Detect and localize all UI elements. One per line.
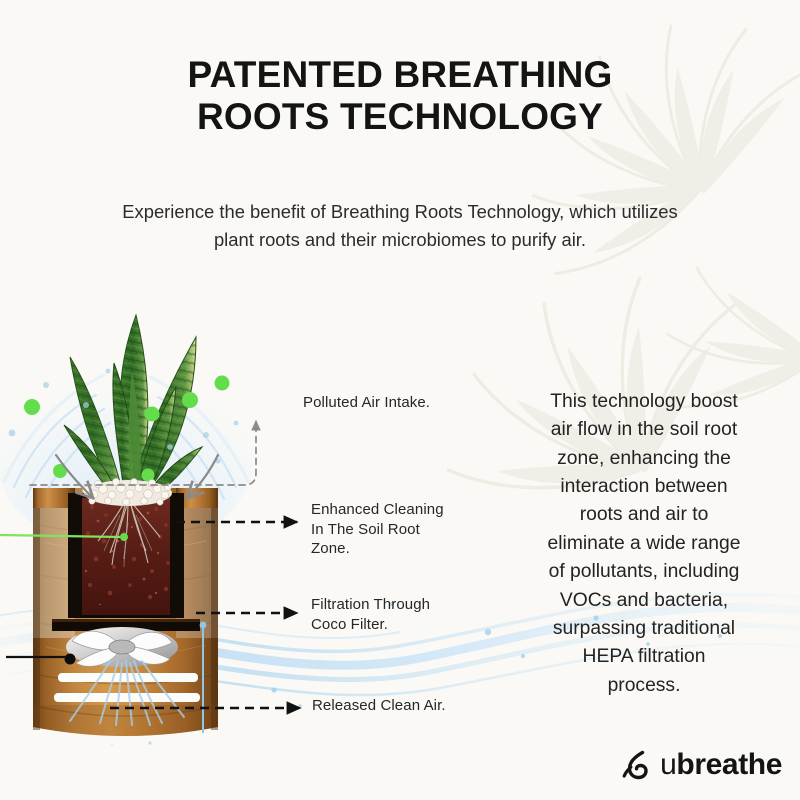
callout-label-polluted-air-intake: Polluted Air Intake. — [303, 393, 503, 413]
breathing-roots-planter-illustration — [0, 275, 310, 745]
callout-label-released-clean-air: Released Clean Air. — [312, 696, 512, 716]
inner-soil-chamber — [68, 493, 184, 618]
ubreathe-leaf-swirl-icon — [621, 748, 651, 782]
air-droplets — [109, 741, 151, 745]
page-title: PATENTED BREATHING ROOTS TECHNOLOGY — [0, 54, 800, 138]
callout-label-enhanced-cleaning: Enhanced Cleaning In The Soil Root Zone. — [311, 500, 491, 559]
technology-description-paragraph: This technology boost air flow in the so… — [508, 388, 780, 700]
ubreathe-wordmark: ubreathe — [660, 750, 782, 780]
fan-assembly — [65, 627, 179, 667]
infographic-page: PATENTED BREATHING ROOTS TECHNOLOGY Expe… — [0, 0, 800, 800]
callout-label-filtration-coco-filter: Filtration Through Coco Filter. — [311, 595, 491, 634]
logo-text-bold: breathe — [676, 748, 782, 781]
logo-text-light: u — [660, 748, 676, 781]
page-subtitle: Experience the benefit of Breathing Root… — [34, 198, 766, 254]
ubreathe-logo: ubreathe — [621, 748, 782, 782]
